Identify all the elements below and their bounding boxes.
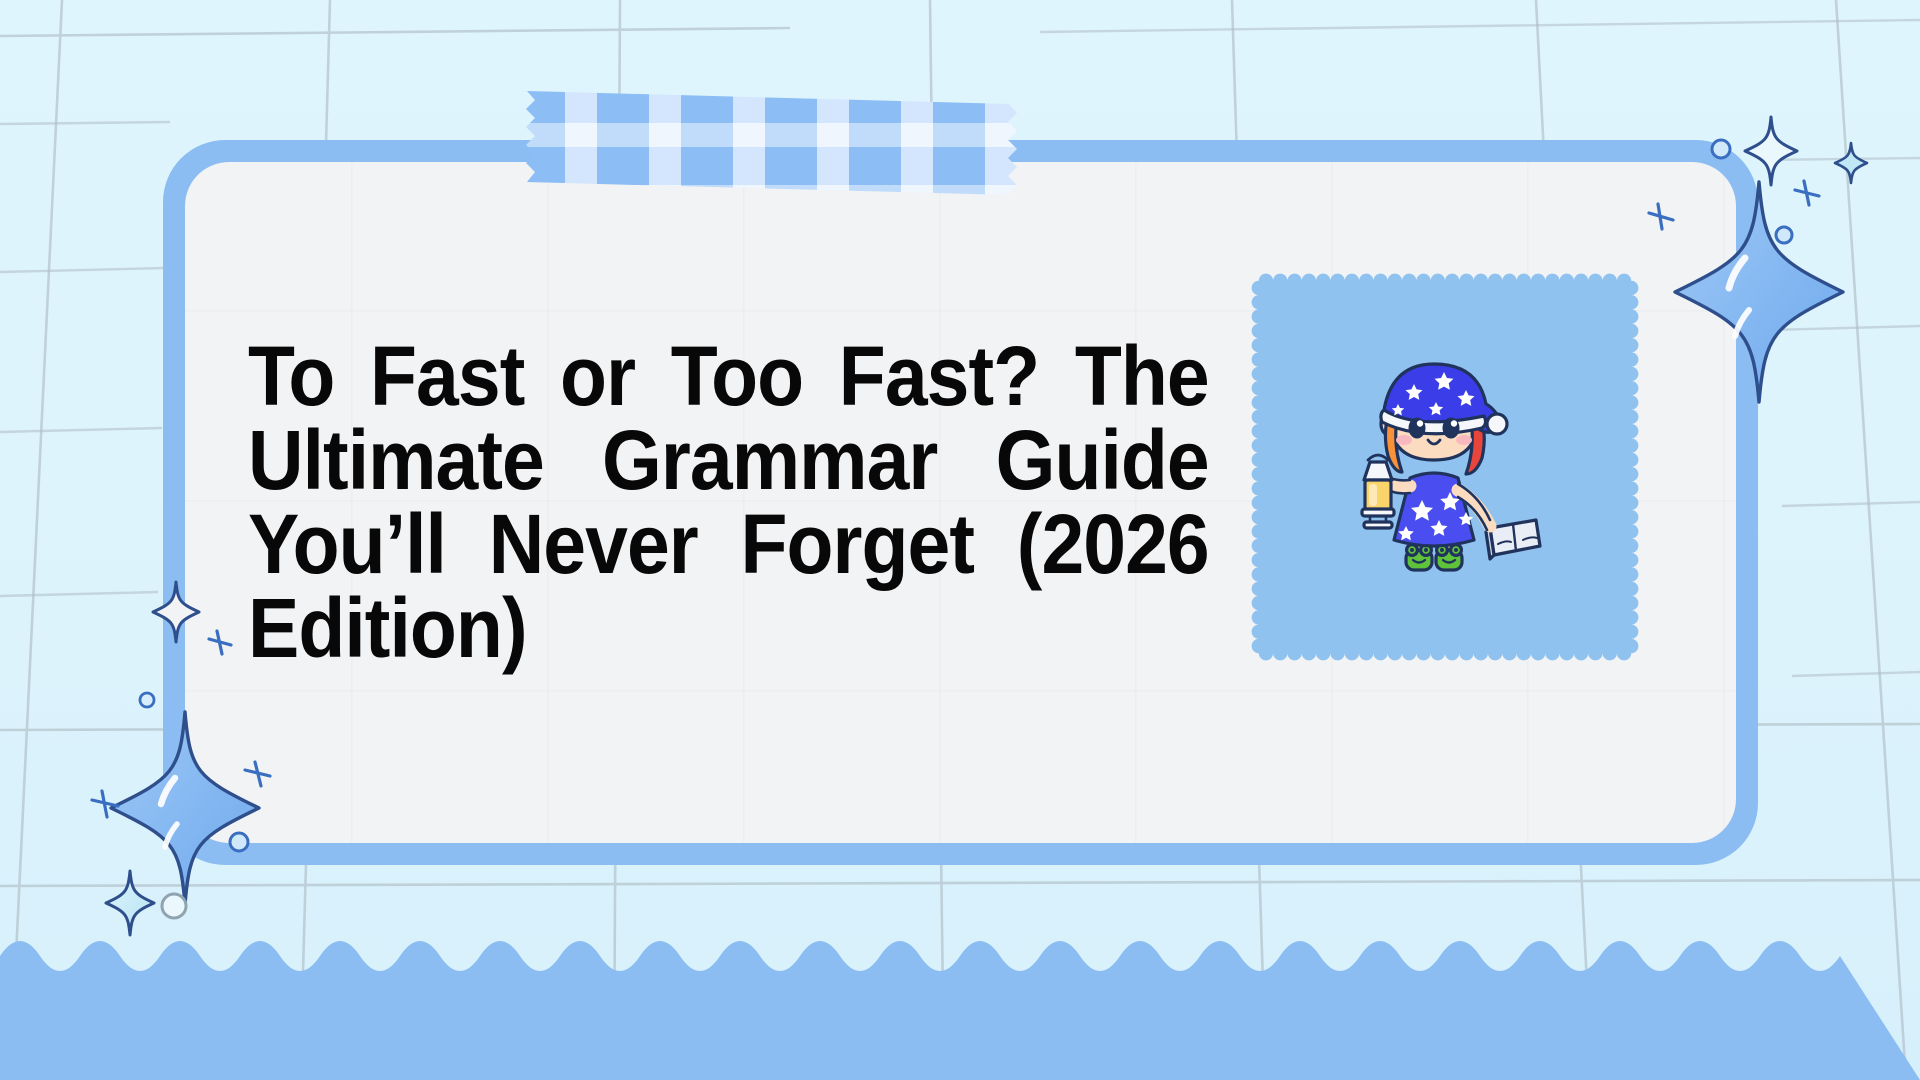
poster-canvas: To Fast or Too Fast? The Ultimate Gramma…: [0, 0, 1920, 1080]
scalloped-photo-tile: [1250, 272, 1640, 662]
title-block: To Fast or Too Fast? The Ultimate Gramma…: [248, 334, 1208, 670]
sleepy-girl-with-lantern-illustration: [1340, 360, 1550, 590]
card-surface: To Fast or Too Fast? The Ultimate Gramma…: [185, 162, 1736, 843]
bottom-scalloped-wave: [0, 910, 1920, 1080]
page-title: To Fast or Too Fast? The Ultimate Gramma…: [248, 334, 1209, 670]
title-card: To Fast or Too Fast? The Ultimate Gramma…: [163, 140, 1758, 865]
washi-tape: [513, 85, 1023, 209]
